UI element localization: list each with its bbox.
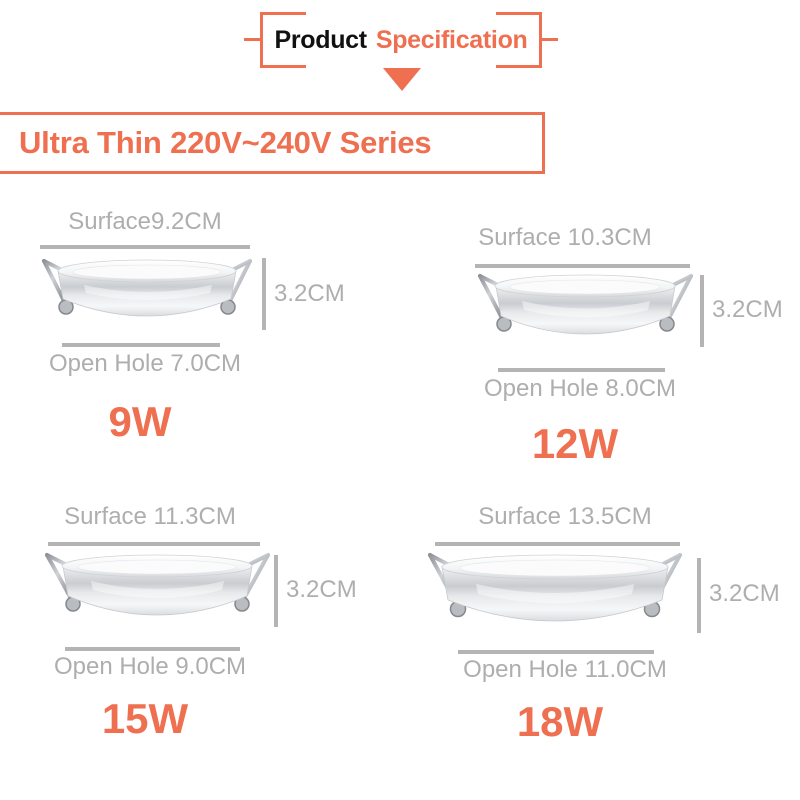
bracket-left-tick — [244, 38, 260, 41]
downlight-image — [458, 270, 713, 365]
surface-label: Surface9.2CM — [0, 208, 290, 236]
product-card-18w: Surface 13.5CM — [400, 490, 800, 750]
height-label: 3.2CM — [712, 296, 783, 324]
wattage-label: 12W — [430, 420, 720, 468]
series-banner: Ultra Thin 220V~240V Series — [0, 112, 545, 174]
height-measure-rule — [697, 558, 701, 633]
wattage-label: 9W — [0, 398, 280, 446]
height-measure-rule — [274, 555, 278, 627]
surface-measure-rule — [40, 245, 250, 249]
height-label: 3.2CM — [709, 580, 780, 608]
surface-measure-rule — [435, 542, 680, 546]
height-measure-rule — [700, 275, 704, 347]
triangle-down-icon — [383, 68, 421, 91]
surface-measure-rule — [48, 542, 260, 546]
product-specification-page: Product Specification Ultra Thin 220V~24… — [0, 0, 800, 800]
open-hole-label: Open Hole 8.0CM — [435, 375, 725, 403]
open-hole-label: Open Hole 9.0CM — [0, 653, 300, 681]
open-hole-measure-rule — [62, 343, 220, 347]
open-hole-measure-rule — [498, 368, 665, 372]
surface-label: Surface 13.5CM — [400, 503, 730, 531]
surface-measure-rule — [475, 264, 690, 268]
open-hole-label: Open Hole 11.0CM — [400, 656, 730, 684]
downlight-image — [22, 255, 272, 345]
series-banner-label: Ultra Thin 220V~240V Series — [19, 125, 431, 161]
page-title-specification: Specification — [376, 26, 528, 55]
product-card-12w: Surface 10.3CM — [420, 220, 800, 480]
header-bracket-frame: Product Specification — [260, 12, 542, 68]
wattage-label: 15W — [0, 695, 290, 743]
header: Product Specification — [0, 8, 800, 98]
downlight-image — [25, 550, 290, 645]
product-card-15w: Surface 11.3CM — [0, 490, 380, 750]
open-hole-measure-rule — [65, 647, 240, 651]
height-label: 3.2CM — [286, 576, 357, 604]
wattage-label: 18W — [400, 698, 720, 746]
height-measure-rule — [262, 258, 266, 330]
downlight-image — [410, 550, 700, 650]
open-hole-label: Open Hole 7.0CM — [0, 350, 290, 378]
height-label: 3.2CM — [274, 280, 345, 308]
page-title: Product Specification — [260, 12, 542, 68]
surface-label: Surface 10.3CM — [420, 224, 710, 252]
surface-label: Surface 11.3CM — [0, 503, 300, 531]
product-card-9w: Surface9.2CM — [0, 200, 370, 460]
bracket-right-tick — [542, 38, 558, 41]
page-title-product: Product — [274, 26, 366, 55]
open-hole-measure-rule — [458, 650, 654, 654]
